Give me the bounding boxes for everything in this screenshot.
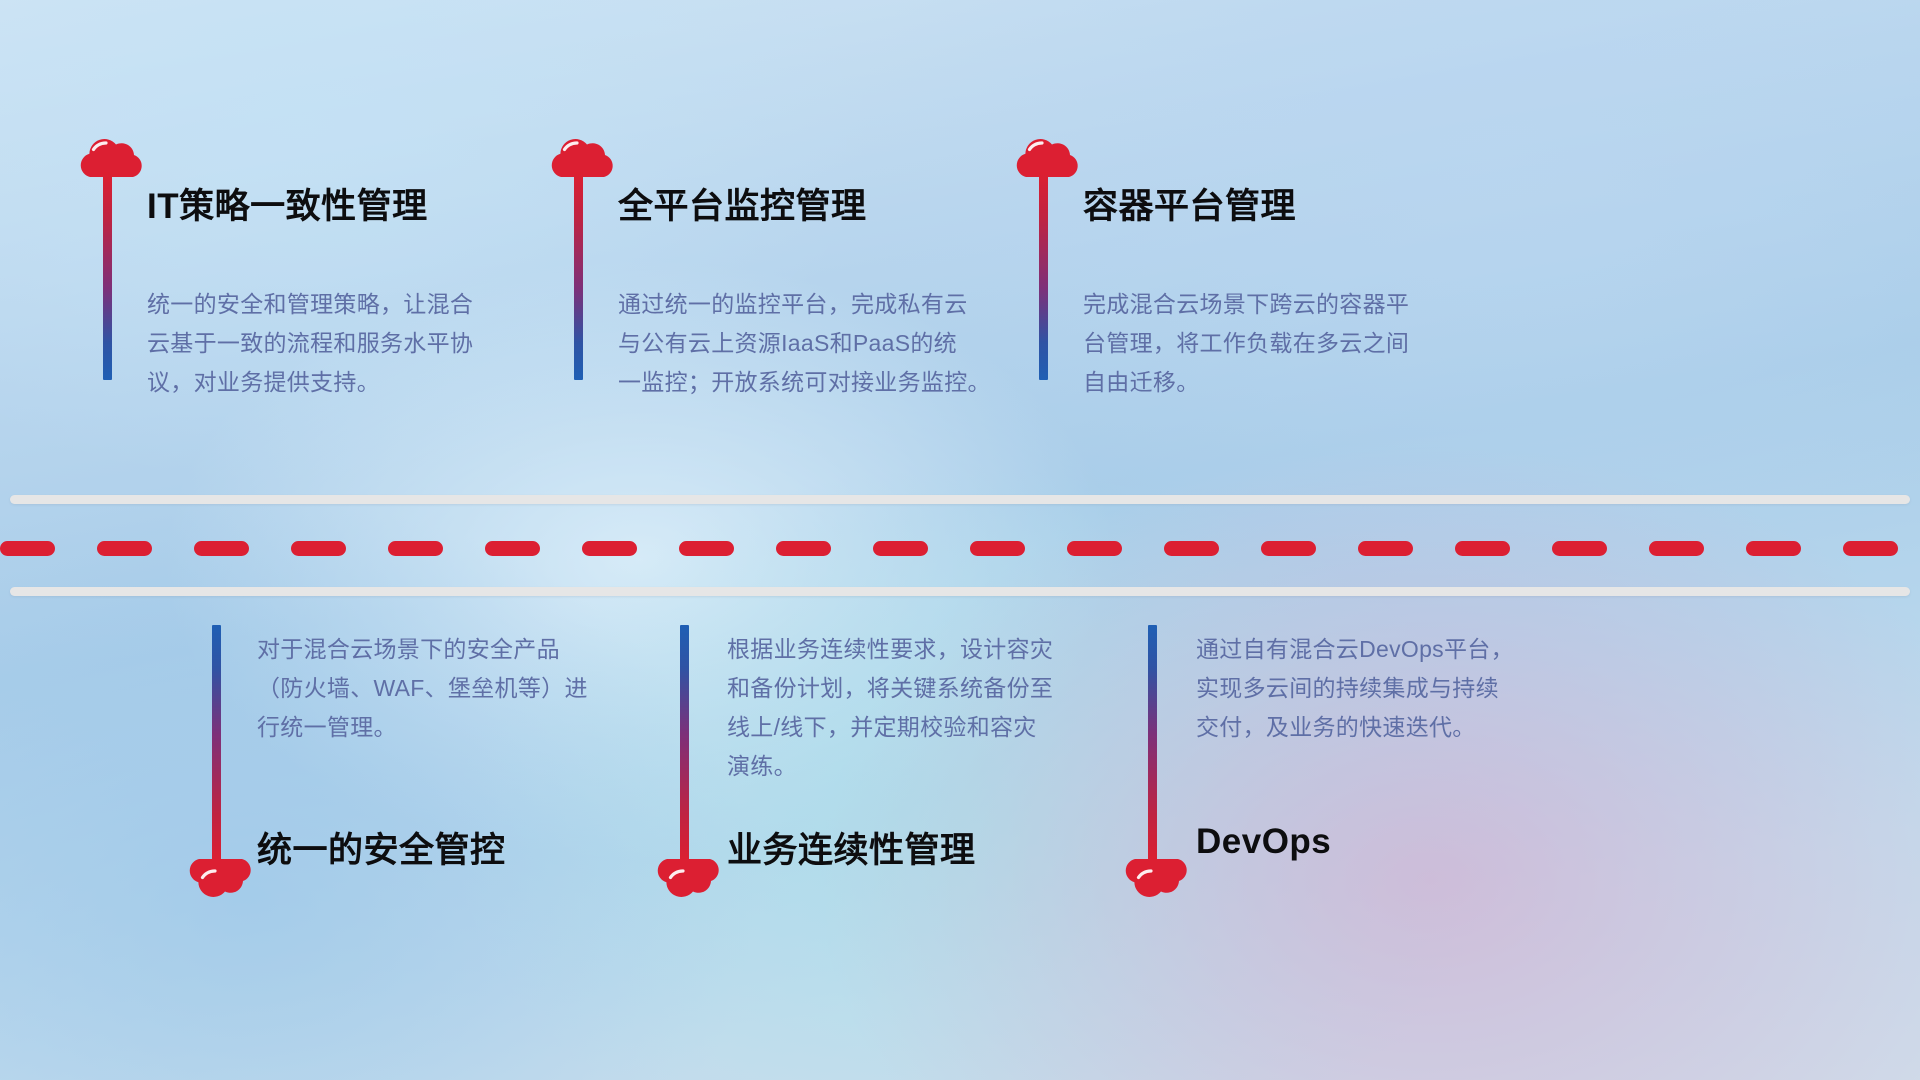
stem-connector bbox=[574, 172, 583, 380]
cloud-icon bbox=[78, 130, 146, 178]
road-dash-segment bbox=[1746, 541, 1801, 556]
road-dash-segment bbox=[1164, 541, 1219, 556]
road-dash-segment bbox=[291, 541, 346, 556]
item-title: IT策略一致性管理 bbox=[147, 178, 428, 229]
cloud-icon bbox=[1123, 858, 1191, 906]
road-center-dashed-line bbox=[0, 541, 1920, 556]
road-dash-segment bbox=[388, 541, 443, 556]
stem-connector bbox=[680, 625, 689, 863]
stem-connector bbox=[1148, 625, 1157, 863]
road-dash-segment bbox=[1358, 541, 1413, 556]
item-title: 统一的安全管控 bbox=[257, 822, 506, 873]
road-dash-segment bbox=[970, 541, 1025, 556]
stem-connector bbox=[1039, 172, 1048, 380]
cloud-icon bbox=[1014, 130, 1082, 178]
road-dash-segment bbox=[582, 541, 637, 556]
cloud-icon bbox=[655, 858, 723, 906]
item-description: 通过自有混合云DevOps平台， 实现多云间的持续集成与持续 交付，及业务的快速… bbox=[1196, 630, 1514, 747]
stem-connector bbox=[212, 625, 221, 863]
road-dash-segment bbox=[1455, 541, 1510, 556]
item-title: 全平台监控管理 bbox=[618, 178, 867, 229]
road-dash-segment bbox=[873, 541, 928, 556]
item-description: 通过统一的监控平台，完成私有云 与公有云上资源IaaS和PaaS的统 一监控；开… bbox=[618, 285, 991, 402]
road-dash-segment bbox=[1649, 541, 1704, 556]
road-dash-segment bbox=[0, 541, 55, 556]
road-dash-segment bbox=[485, 541, 540, 556]
item-description: 完成混合云场景下跨云的容器平 台管理，将工作负载在多云之间 自由迁移。 bbox=[1083, 285, 1409, 402]
road-dash-segment bbox=[776, 541, 831, 556]
road-dash-segment bbox=[97, 541, 152, 556]
item-title: DevOps bbox=[1196, 822, 1331, 862]
cloud-icon bbox=[187, 858, 255, 906]
item-description: 统一的安全和管理策略，让混合 云基于一致的流程和服务水平协 议，对业务提供支持。 bbox=[147, 285, 473, 402]
stem-connector bbox=[103, 172, 112, 380]
item-description: 根据业务连续性要求，设计容灾 和备份计划，将关键系统备份至 线上/线下，并定期校… bbox=[727, 630, 1053, 786]
item-title: 业务连续性管理 bbox=[727, 822, 976, 873]
road-dash-segment bbox=[1552, 541, 1607, 556]
road-line-lower bbox=[10, 587, 1910, 596]
road-dash-segment bbox=[1843, 541, 1898, 556]
cloud-icon bbox=[549, 130, 617, 178]
item-description: 对于混合云场景下的安全产品 （防火墙、WAF、堡垒机等）进 行统一管理。 bbox=[257, 630, 588, 747]
road-dash-segment bbox=[194, 541, 249, 556]
road-dash-segment bbox=[1261, 541, 1316, 556]
road-dash-segment bbox=[1067, 541, 1122, 556]
road-line-upper bbox=[10, 495, 1910, 504]
item-title: 容器平台管理 bbox=[1083, 178, 1296, 229]
infographic-canvas: IT策略一致性管理 统一的安全和管理策略，让混合 云基于一致的流程和服务水平协 … bbox=[0, 0, 1920, 1080]
road-dash-segment bbox=[679, 541, 734, 556]
